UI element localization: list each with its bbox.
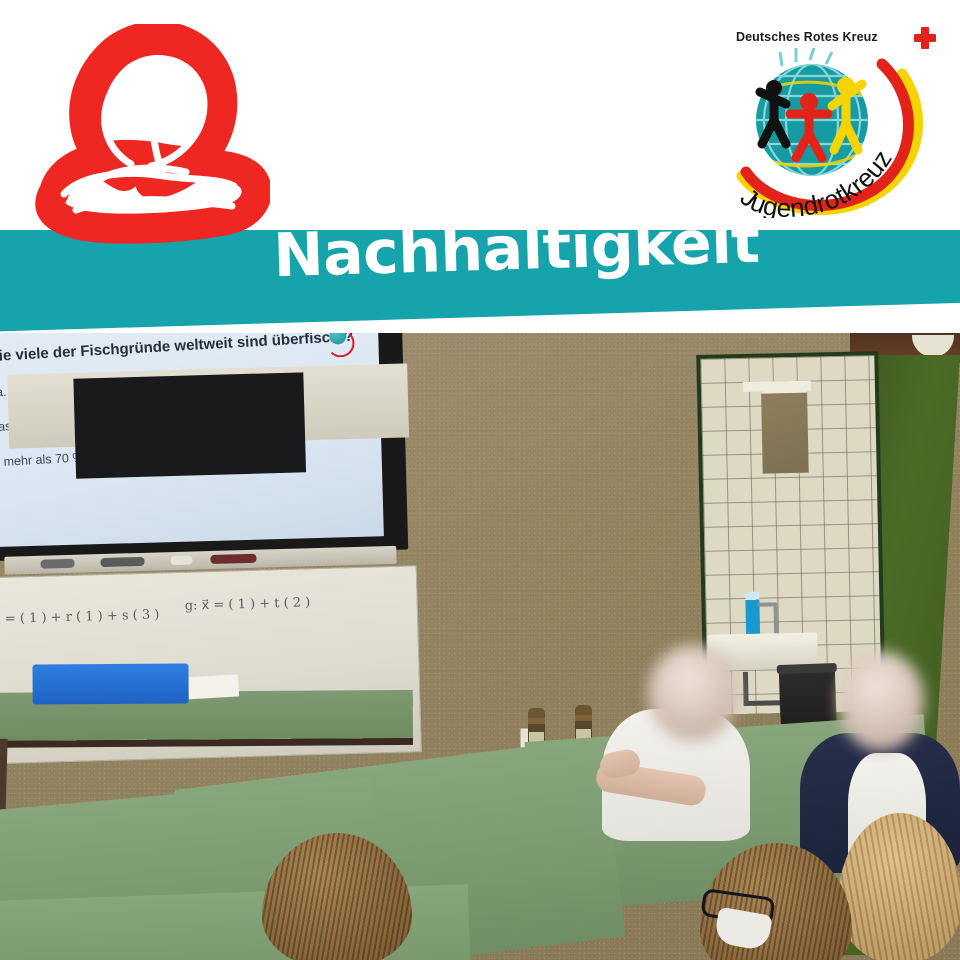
poster-canvas: Wie viele der Fischgründe weltweit sind …: [0, 0, 960, 960]
classroom-photo: Wie viele der Fischgründe weltweit sind …: [0, 333, 960, 960]
soap-bottle: [745, 592, 760, 636]
tray-button-4: [210, 554, 256, 564]
red-cross-icon: [914, 27, 936, 49]
mirror-shelf: [743, 381, 811, 392]
student-face-blurred: [838, 651, 924, 751]
tray-button-2: [100, 557, 144, 567]
whiteboard-note-2: g: x⃗ = ( 1 ) + t ( 2 ): [185, 595, 311, 614]
tray-button-1: [40, 559, 74, 569]
ceiling-lamp: [912, 335, 954, 357]
blue-storage-box: [32, 663, 188, 704]
sink-pipe: [743, 672, 749, 706]
mirror: [761, 393, 809, 474]
teacher-desk: [0, 690, 413, 741]
whiteboard-note-1: x⃗ = ( 1 ) + r ( 1 ) + s ( 3 ): [0, 607, 160, 627]
slide-question: Wie viele der Fischgründe weltweit sind …: [0, 333, 354, 365]
board-area: Wie viele der Fischgründe weltweit sind …: [0, 333, 434, 751]
jugendrotkreuz-logo: Deutsches Rotes Kreuz: [724, 22, 944, 212]
student-face-blurred: [648, 645, 738, 741]
under-desk-shadow: [73, 372, 306, 478]
drk-org-label: Deutsches Rotes Kreuz: [736, 30, 878, 44]
tray-button-3: [170, 555, 192, 565]
hand-holding-leaf-logo: [20, 24, 270, 244]
slide-jrk-globe-icon: [326, 333, 357, 358]
slide-option-3: mehr als 70 %: [3, 450, 84, 468]
faucet: [774, 605, 779, 635]
trash-rim: [777, 663, 837, 674]
